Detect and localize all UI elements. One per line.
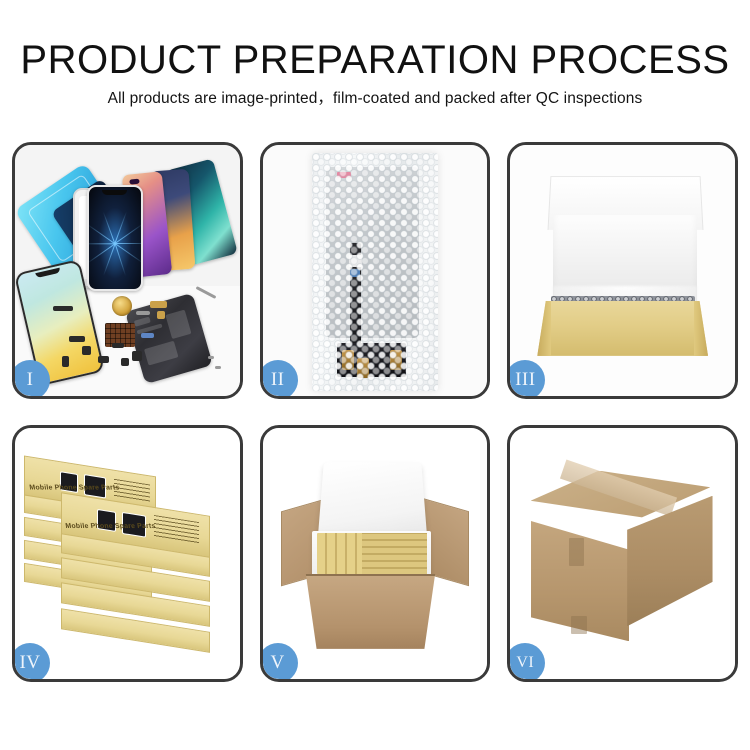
- screw-part-icon: [215, 366, 221, 369]
- box-label: Mobile Phone Spare Parts: [29, 484, 120, 491]
- foam-box-lid-icon: [318, 462, 428, 537]
- small-part-icon: [62, 356, 69, 367]
- step-badge-2: II: [263, 360, 298, 396]
- page-subtitle: All products are image-printed，film-coat…: [0, 86, 750, 108]
- box-spec-lines: [155, 515, 199, 544]
- product-boxes-row-icon: [362, 533, 427, 573]
- carton-tab-icon: [569, 538, 585, 566]
- gold-flex-part-icon: [150, 301, 167, 308]
- spark-graphic-icon: [115, 243, 116, 244]
- step-badge-5: V: [263, 643, 298, 679]
- panel-step-3: III: [507, 142, 738, 399]
- panel-step-5: V: [260, 425, 491, 682]
- bubble-wrap-bag-icon: [312, 153, 438, 391]
- panel-step-2: II: [260, 142, 491, 399]
- photo-stacked-retail-boxes: Mobile Phone Spare Parts Mobile Phone Sp…: [15, 428, 240, 679]
- box-spec-lines: [114, 478, 150, 504]
- small-part-icon: [82, 346, 91, 355]
- copper-coil-part-icon: [112, 296, 132, 316]
- panel-step-1: I: [12, 142, 243, 399]
- small-part-icon: [112, 343, 124, 348]
- small-part-icon: [98, 356, 109, 363]
- carton-body-icon: [303, 574, 438, 649]
- header: PRODUCT PREPARATION PROCESS All products…: [0, 0, 750, 130]
- notch-icon: [102, 190, 127, 195]
- screw-part-icon: [208, 356, 214, 359]
- box-label: Mobile Phone Spare Parts: [65, 522, 156, 529]
- kraft-tray-icon: [537, 301, 708, 356]
- small-part-icon: [69, 336, 85, 342]
- photo-phone-parts: I: [15, 145, 240, 396]
- carton-tab-icon: [571, 616, 587, 634]
- small-part-icon: [121, 358, 129, 366]
- photo-open-kraft-box: III: [510, 145, 735, 396]
- page-title: PRODUCT PREPARATION PROCESS: [0, 38, 750, 83]
- box-stack: Mobile Phone Spare Parts Mobile Phone Sp…: [24, 453, 231, 664]
- grey-flex-part-icon: [136, 311, 150, 315]
- panel-step-6: VI: [507, 425, 738, 682]
- photo-sealed-carton: VI: [510, 428, 735, 679]
- photo-bubble-wrapped-screen: II: [263, 145, 488, 396]
- product-preparation-infographic: PRODUCT PREPARATION PROCESS All products…: [0, 0, 750, 750]
- camera-dot-icon: [130, 178, 140, 184]
- notch-icon: [36, 268, 62, 279]
- small-part-icon: [132, 351, 142, 361]
- panel-step-4: Mobile Phone Spare Parts Mobile Phone Sp…: [12, 425, 243, 682]
- small-part-icon: [53, 306, 73, 311]
- black-lcd-screen-icon: [87, 185, 143, 290]
- blue-connector-part-icon: [141, 333, 154, 338]
- bubble-texture-icon: [312, 153, 438, 391]
- photo-carton-with-foam-box: V: [263, 428, 488, 679]
- process-step-grid: I: [12, 142, 738, 682]
- gold-flex-part-icon: [157, 311, 165, 319]
